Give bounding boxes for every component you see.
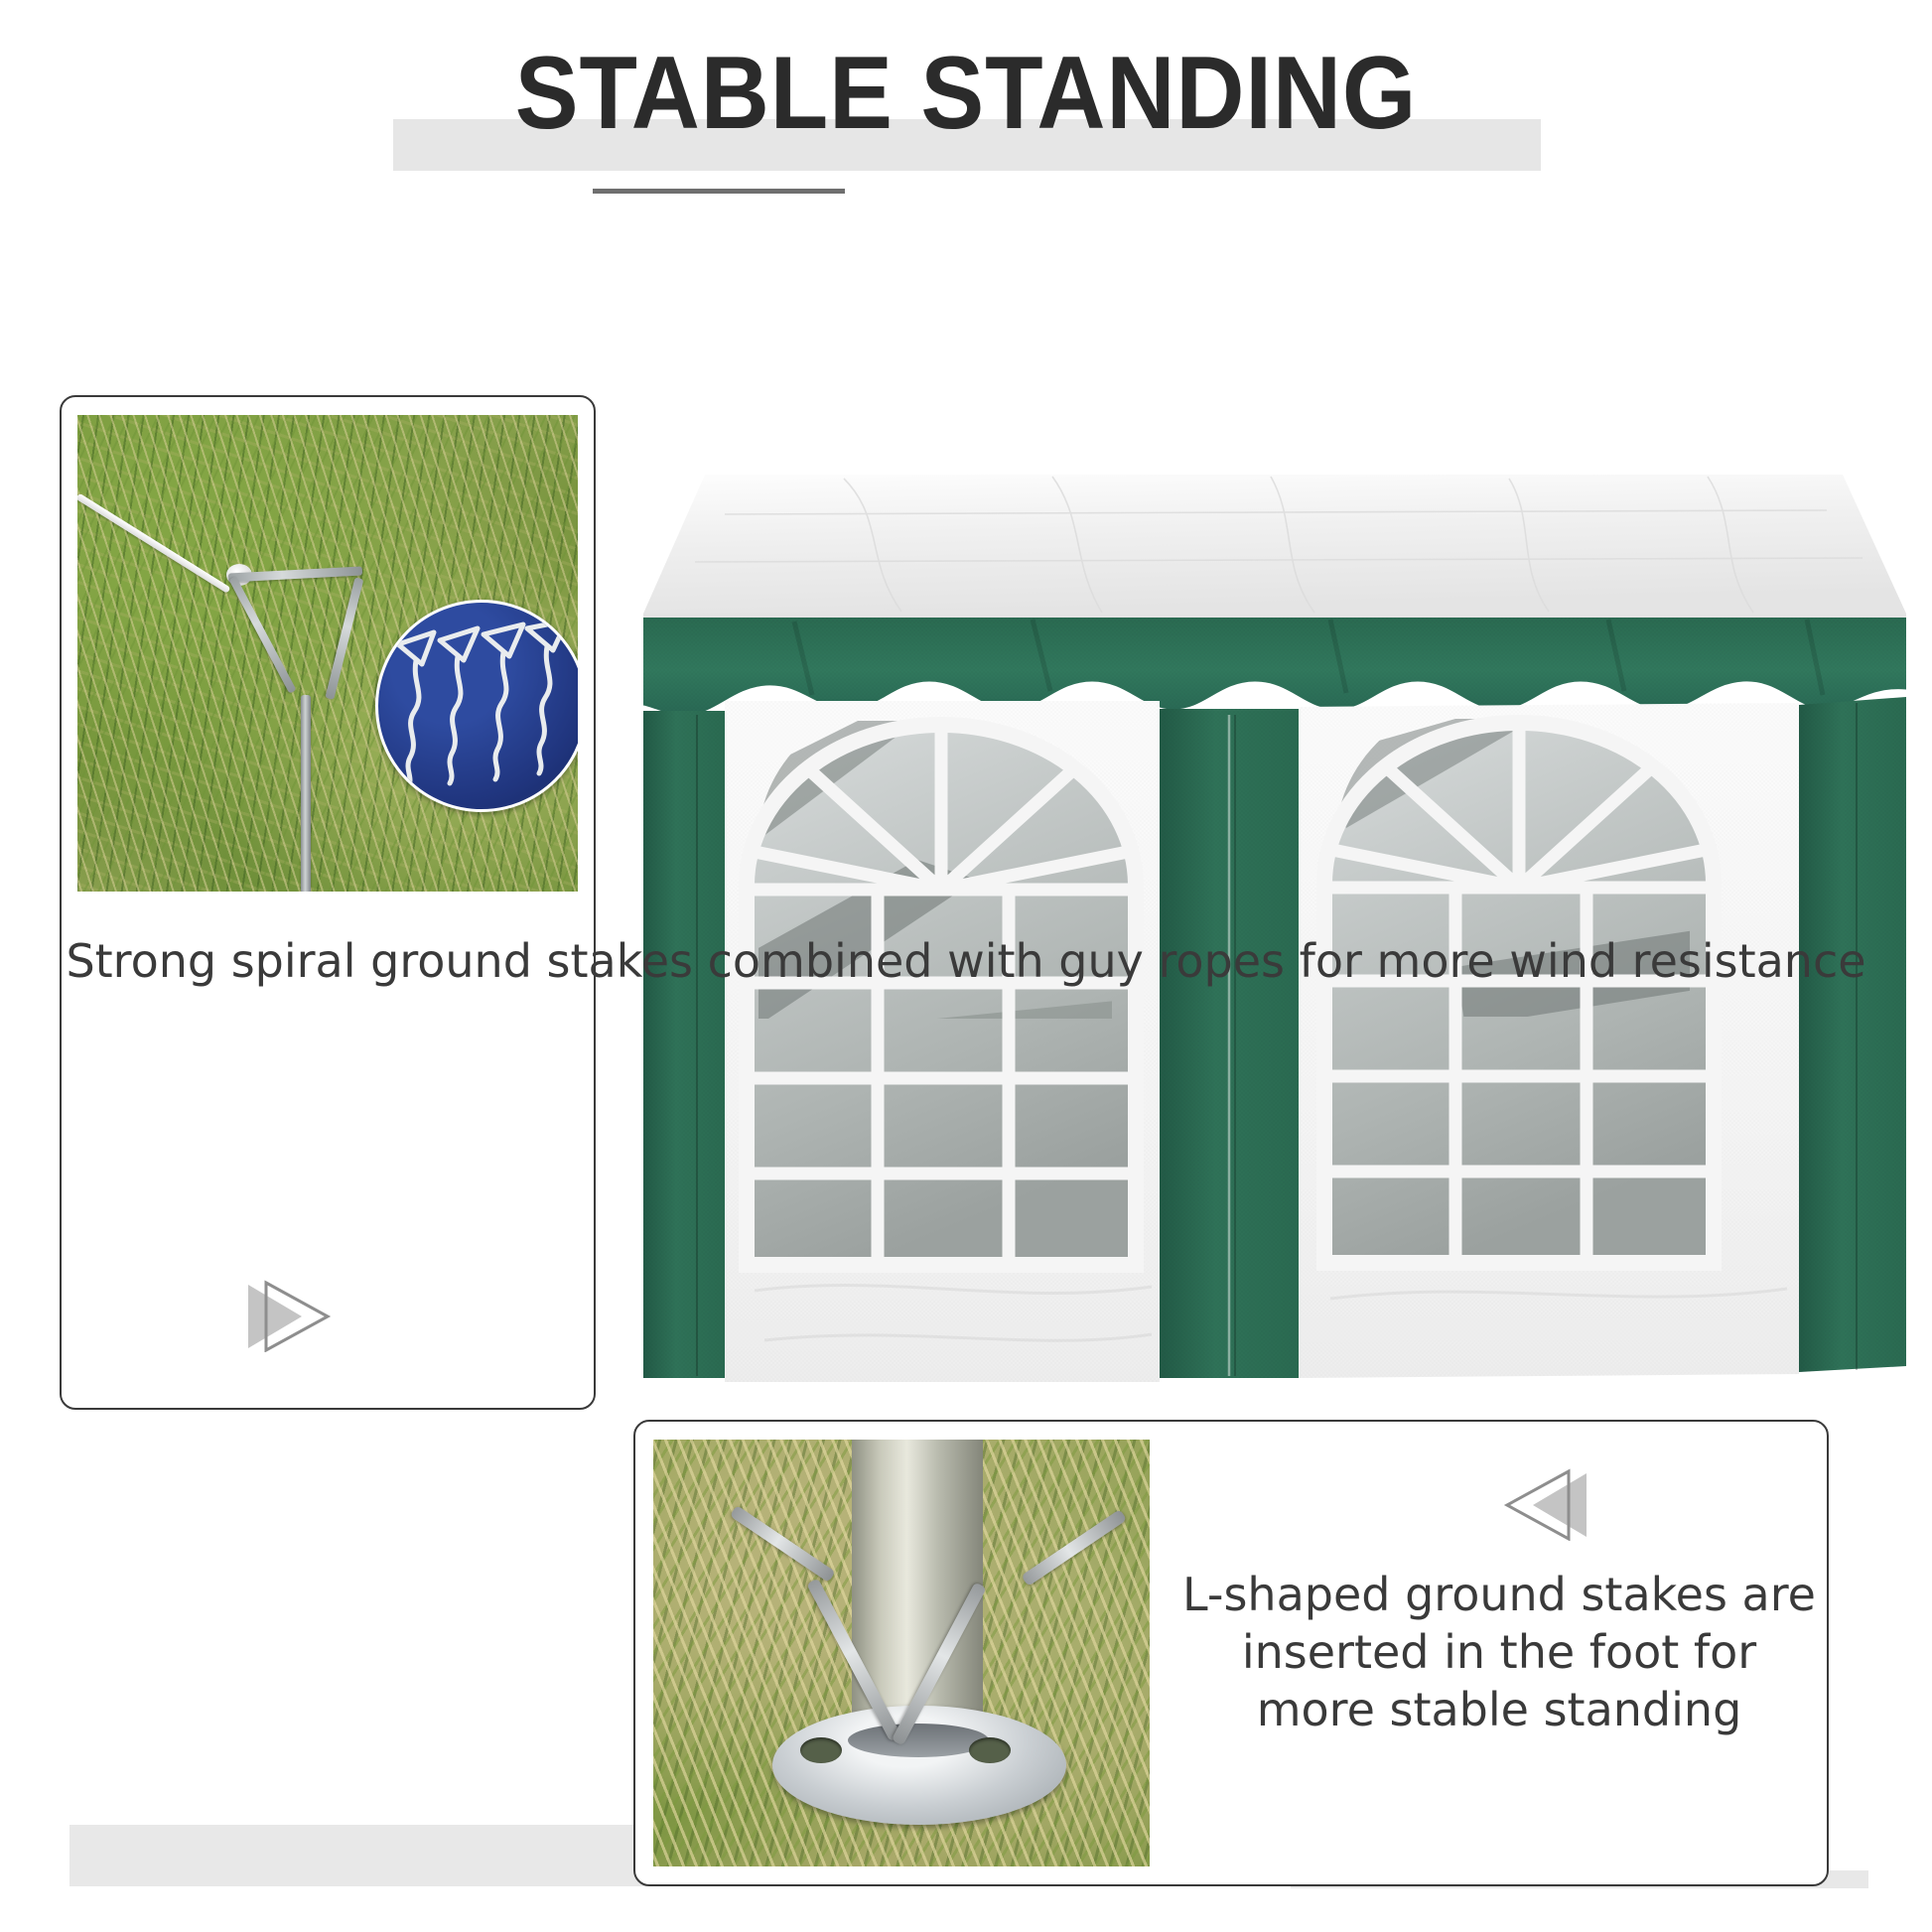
pole-foot-caption: L-shaped ground stakes are inserted in t… xyxy=(1181,1567,1817,1739)
tent-roof xyxy=(643,475,1906,623)
infographic-canvas: STABLE STANDING xyxy=(0,0,1932,1932)
pole-foot-photo xyxy=(653,1440,1150,1866)
tent-svg xyxy=(635,467,1906,1390)
tent-window-left xyxy=(739,721,1136,1265)
product-tent-image xyxy=(635,467,1906,1390)
page-title: STABLE STANDING xyxy=(77,40,1855,148)
tent-wall-panel-left xyxy=(725,701,1160,1382)
tent-right-corner-post xyxy=(1799,697,1906,1372)
triangle-left-icon xyxy=(1495,1467,1590,1541)
spiral-stake-inset-circle xyxy=(375,600,578,812)
spiral-stake-photo xyxy=(77,415,578,892)
weld-seam xyxy=(848,1724,989,1757)
tent-left-corner-post xyxy=(643,711,725,1378)
triangle-right-icon xyxy=(244,1279,340,1352)
spiral-stake-caption: Strong spiral ground stakes combined wit… xyxy=(0,933,1932,990)
spiral-stakes-svg xyxy=(378,603,578,809)
base-plate-hole-left xyxy=(800,1737,842,1763)
tent-center-door-strip xyxy=(1160,709,1299,1378)
stake-shaft xyxy=(301,695,311,892)
tent-window-right xyxy=(1316,719,1714,1263)
tent-wall-panel-right xyxy=(1299,703,1799,1378)
base-plate-hole-right xyxy=(969,1737,1011,1763)
title-underline-rule xyxy=(593,189,845,194)
